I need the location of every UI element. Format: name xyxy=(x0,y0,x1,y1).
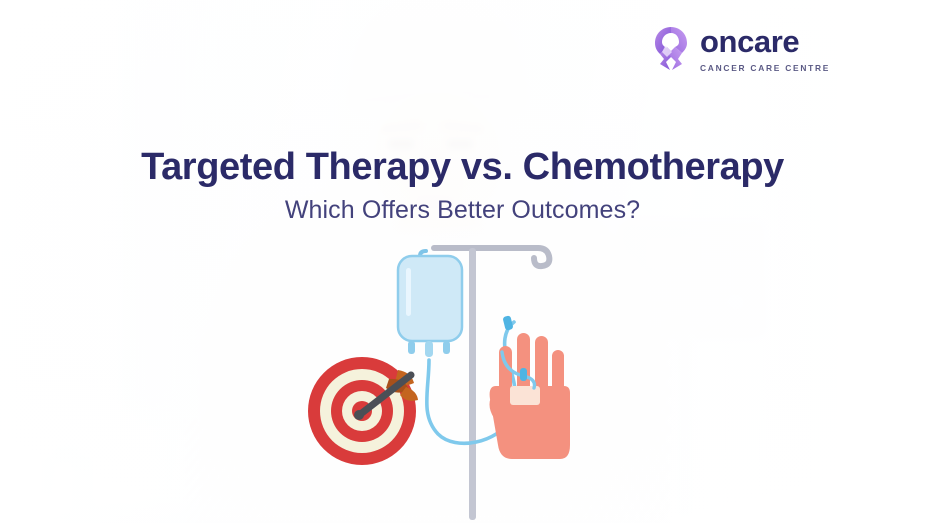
cannula-tape xyxy=(510,386,540,405)
marketing-banner: oncare CANCER CARE CENTRE Targeted Thera… xyxy=(0,0,925,523)
patient-hand-icon xyxy=(484,330,584,490)
target-dartboard-icon xyxy=(306,349,436,467)
illustration-group xyxy=(0,0,925,523)
